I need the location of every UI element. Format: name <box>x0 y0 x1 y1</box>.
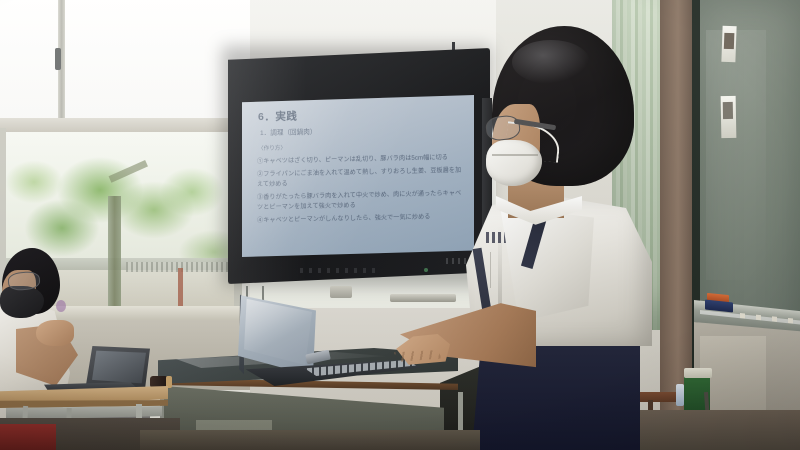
waste-bin-lid[interactable] <box>684 368 712 378</box>
window-upper-pane <box>0 0 250 128</box>
window-latch-icon[interactable] <box>55 48 61 70</box>
outdoor-post <box>178 268 183 308</box>
tree-trunk <box>108 196 121 308</box>
power-led-icon <box>424 268 428 272</box>
window-sill-upper <box>0 118 250 132</box>
posted-card-lower <box>721 96 737 138</box>
floor-center <box>140 430 480 450</box>
display-lower-bar <box>390 294 456 302</box>
student-laptop-display-surface[interactable] <box>92 350 146 384</box>
display-control-buttons[interactable] <box>300 268 376 273</box>
display-sensor-module <box>330 286 352 298</box>
floor-mat <box>0 424 56 450</box>
spray-bottle[interactable] <box>676 384 684 406</box>
display-screen[interactable]: 6．実践 1．調理（回鍋肉） 〈作り方〉 ①キャベツはざく切り、ピーマンは乱切り… <box>242 95 474 257</box>
chalk-smear <box>706 30 766 280</box>
seated-student-hands <box>36 320 74 346</box>
presenter-hair-highlight <box>512 40 590 84</box>
screen-glare <box>242 95 474 257</box>
posted-card-upper <box>721 26 736 62</box>
classroom-photo: 6．実践 1．調理（回鍋肉） 〈作り方〉 ①キャベツはざく切り、ピーマンは乱切り… <box>0 0 800 450</box>
seated-student-accessory <box>56 300 66 312</box>
